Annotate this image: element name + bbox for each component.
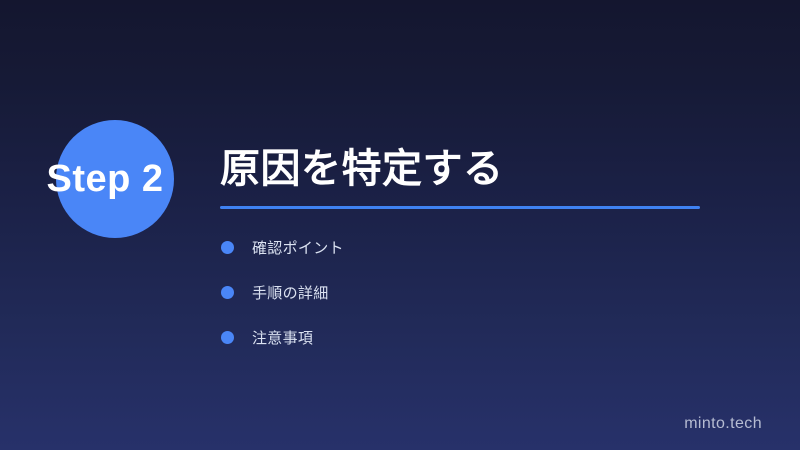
watermark: minto.tech xyxy=(684,415,762,433)
list-item-label: 手順の詳細 xyxy=(252,282,329,303)
list-item: 確認ポイント xyxy=(221,239,344,255)
step-badge: Step 2 xyxy=(0,120,210,238)
bullet-dot-icon xyxy=(221,331,234,344)
slide-canvas: Step 2 原因を特定する 確認ポイント 手順の詳細 注意事項 minto.t… xyxy=(0,0,800,450)
bullet-dot-icon xyxy=(221,286,234,299)
list-item: 手順の詳細 xyxy=(221,284,344,300)
bullet-dot-icon xyxy=(221,241,234,254)
slide-title: 原因を特定する xyxy=(220,146,700,192)
step-label: Step 2 xyxy=(0,120,210,238)
list-item-label: 確認ポイント xyxy=(252,237,344,258)
bullet-list: 確認ポイント 手順の詳細 注意事項 xyxy=(221,239,344,345)
list-item: 注意事項 xyxy=(221,329,344,345)
title-block: 原因を特定する xyxy=(220,146,700,209)
list-item-label: 注意事項 xyxy=(252,327,313,348)
title-divider xyxy=(220,206,700,209)
